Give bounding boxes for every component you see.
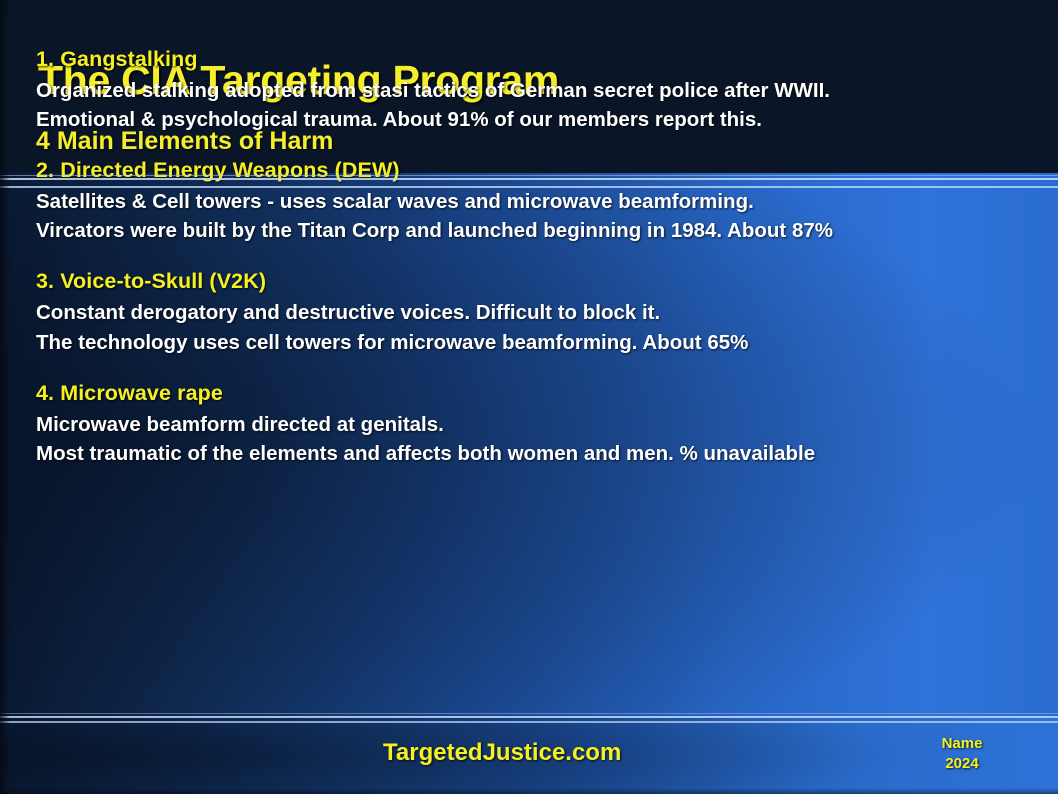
element-line-1: Satellites & Cell towers - uses scalar w… xyxy=(36,187,1058,216)
list-item: 4. Microwave rape Microwave beamform dir… xyxy=(36,381,1058,468)
list-item: 2. Directed Energy Weapons (DEW) Satelli… xyxy=(36,158,1058,245)
element-line-1: Microwave beamform directed at genitals. xyxy=(36,410,1058,439)
element-line-1: Constant derogatory and destructive voic… xyxy=(36,298,1058,327)
slide-root: The CIA Targeting Program 4 Main Element… xyxy=(0,0,1058,794)
top-stripe-band xyxy=(0,0,1058,13)
element-line-2: Emotional & psychological trauma. About … xyxy=(36,105,1058,134)
element-line-2: The technology uses cell towers for micr… xyxy=(36,328,1058,357)
elements-list: 1. Gangstalking Organized stalking adopt… xyxy=(0,0,1058,794)
element-heading: 3. Voice-to-Skull (V2K) xyxy=(36,269,1058,294)
element-heading: 2. Directed Energy Weapons (DEW) xyxy=(36,158,1058,183)
list-item: 1. Gangstalking Organized stalking adopt… xyxy=(36,47,1058,134)
element-heading: 4. Microwave rape xyxy=(36,381,1058,406)
list-item: 3. Voice-to-Skull (V2K) Constant derogat… xyxy=(36,269,1058,356)
element-line-2: Most traumatic of the elements and affec… xyxy=(36,439,1058,468)
element-line-1: Organized stalking adopted from stasi ta… xyxy=(36,76,1058,105)
element-line-2: Vircators were built by the Titan Corp a… xyxy=(36,216,1058,245)
element-heading: 1. Gangstalking xyxy=(36,47,1058,72)
